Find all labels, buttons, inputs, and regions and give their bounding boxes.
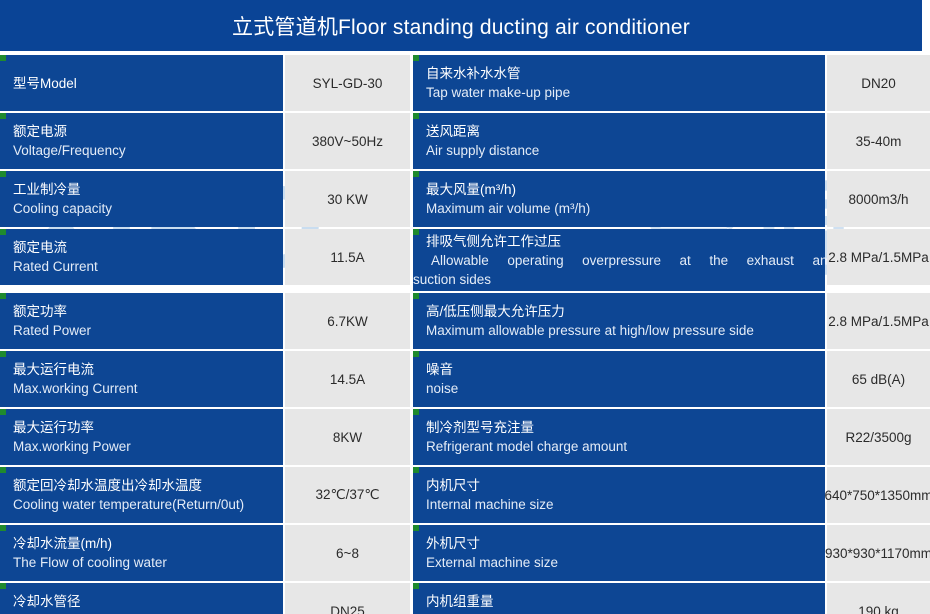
table-row: 额定功率Rated Power6.7KW高/低压侧最大允许压力Maximum a… [0, 293, 930, 349]
row-4-left-label: 额定功率Rated Power [0, 293, 283, 349]
table-row: 冷却水流量(m/h)The Flow of cooling water6~8外机… [0, 525, 930, 581]
row-8-left-label: 冷却水流量(m/h)The Flow of cooling water [0, 525, 283, 581]
row-2-left-value: 30 KW [285, 171, 410, 227]
row-8-left-value: 6~8 [285, 525, 410, 581]
row-7-left-label: 额定回冷却水温度出冷却水温度Cooling water temperature(… [0, 467, 283, 523]
label-english: Tap water make-up pipe [426, 83, 825, 102]
table-row: 冷却水管径Pipe diameter for cooling water pip… [0, 583, 930, 614]
label-english: Refrigerant model charge amount [426, 437, 825, 456]
label-english: Air supply distance [426, 141, 825, 160]
label-english: Cooling capacity [13, 199, 283, 218]
label-chinese: 冷却水管径 [13, 592, 283, 611]
row-2-right-value: 8000m3/h [827, 171, 930, 227]
row-9-left-value: DN25 [285, 583, 410, 614]
label-chinese: 制冷剂型号充注量 [426, 418, 825, 437]
row-0-right-value: DN20 [827, 55, 930, 111]
row-0-left-value: SYL-GD-30 [285, 55, 410, 111]
row-3-right-value: 2.8 MPa/1.5MPa [827, 229, 930, 285]
row-6-left-label: 最大运行功率Max.working Power [0, 409, 283, 465]
row-6-left-value: 8KW [285, 409, 410, 465]
label-english: Maximum allowable pressure at high/low p… [426, 321, 825, 340]
row-3-right-label: 排吸气侧允许工作过压Allowable operating overpressu… [413, 229, 825, 291]
label-chinese: 高/低压侧最大允许压力 [426, 302, 825, 321]
label-chinese: 自来水补水水管 [426, 64, 825, 83]
label-chinese: 型号Model [13, 74, 283, 93]
label-english-line1: Allowable operating overpressure at the … [426, 251, 837, 270]
table-title-banner: 立式管道机Floor standing ducting air conditio… [0, 0, 922, 51]
page-title: 立式管道机Floor standing ducting air conditio… [232, 11, 690, 41]
row-3-left-label: 额定电流Rated Current [0, 229, 283, 285]
row-5-left-label: 最大运行电流Max.working Current [0, 351, 283, 407]
row-7-right-value: 640*750*1350mm [827, 467, 930, 523]
row-4-right-value: 2.8 MPa/1.5MPa [827, 293, 930, 349]
label-english: The Flow of cooling water [13, 553, 283, 572]
row-4-right-label: 高/低压侧最大允许压力Maximum allowable pressure at… [413, 293, 825, 349]
table-row: 额定电源Voltage/Frequency380V~50Hz送风距离Air su… [0, 113, 930, 169]
label-english: Max.working Current [13, 379, 283, 398]
row-8-right-value: 930*930*1170mm [827, 525, 930, 581]
table-row: 最大运行功率Max.working Power8KW制冷剂型号充注量Refrig… [0, 409, 930, 465]
row-5-left-value: 14.5A [285, 351, 410, 407]
row-6-right-label: 制冷剂型号充注量Refrigerant model charge amount [413, 409, 825, 465]
label-chinese: 排吸气侧允许工作过压 [426, 232, 825, 251]
table-row: 工业制冷量Cooling capacity30 KW最大风量(m³/h)Maxi… [0, 171, 930, 227]
label-chinese: 内机尺寸 [426, 476, 825, 495]
label-english: Max.working Power [13, 437, 283, 456]
row-2-right-label: 最大风量(m³/h)Maximum air volume (m³/h) [413, 171, 825, 227]
label-chinese: 冷却水流量(m/h) [13, 534, 283, 553]
row-9-left-label: 冷却水管径Pipe diameter for cooling water pip… [0, 583, 283, 614]
table-row: 最大运行电流Max.working Current14.5A噪音noise65 … [0, 351, 930, 407]
row-0-right-label: 自来水补水水管Tap water make-up pipe [413, 55, 825, 111]
row-8-right-label: 外机尺寸External machine size [413, 525, 825, 581]
table-row: 型号ModelSYL-GD-30自来水补水水管Tap water make-up… [0, 55, 930, 111]
label-english: Maximum air volume (m³/h) [426, 199, 825, 218]
label-chinese: 噪音 [426, 360, 825, 379]
row-7-left-value: 32℃/37℃ [285, 467, 410, 523]
label-english: Rated Current [13, 257, 283, 276]
label-chinese: 工业制冷量 [13, 180, 283, 199]
label-english: noise [426, 379, 825, 398]
row-0-left-label: 型号Model [0, 55, 283, 111]
spec-sheet: XIKO 空调 立式管道机Floor standing ducting air … [0, 0, 930, 614]
label-english-line2: suction sides [413, 270, 837, 289]
row-3-left-value: 11.5A [285, 229, 410, 285]
row-4-left-value: 6.7KW [285, 293, 410, 349]
label-chinese: 额定功率 [13, 302, 283, 321]
row-1-right-value: 35-40m [827, 113, 930, 169]
label-chinese: 额定电源 [13, 122, 283, 141]
row-7-right-label: 内机尺寸Internal machine size [413, 467, 825, 523]
row-5-right-value: 65 dB(A) [827, 351, 930, 407]
row-1-left-value: 380V~50Hz [285, 113, 410, 169]
label-chinese: 送风距离 [426, 122, 825, 141]
label-english: Voltage/Frequency [13, 141, 283, 160]
label-chinese: 最大运行电流 [13, 360, 283, 379]
label-chinese: 内机组重量 [426, 592, 825, 611]
label-english: Cooling water temperature(Return/0ut) [13, 495, 283, 514]
table-row: 额定回冷却水温度出冷却水温度Cooling water temperature(… [0, 467, 930, 523]
table-row: 额定电流Rated Current11.5A排吸气侧允许工作过压Allowabl… [0, 229, 930, 291]
label-chinese: 额定回冷却水温度出冷却水温度 [13, 476, 283, 495]
row-2-left-label: 工业制冷量Cooling capacity [0, 171, 283, 227]
row-9-right-value: 190 kg [827, 583, 930, 614]
label-chinese: 最大运行功率 [13, 418, 283, 437]
label-english: Rated Power [13, 321, 283, 340]
label-chinese: 额定电流 [13, 238, 283, 257]
row-9-right-label: 内机组重量Unit quality [413, 583, 825, 614]
row-6-right-value: R22/3500g [827, 409, 930, 465]
label-english: Internal machine size [426, 495, 825, 514]
row-5-right-label: 噪音noise [413, 351, 825, 407]
label-chinese: 最大风量(m³/h) [426, 180, 825, 199]
row-1-left-label: 额定电源Voltage/Frequency [0, 113, 283, 169]
label-english: External machine size [426, 553, 825, 572]
spec-table: 型号ModelSYL-GD-30自来水补水水管Tap water make-up… [0, 55, 930, 614]
label-chinese: 外机尺寸 [426, 534, 825, 553]
row-1-right-label: 送风距离Air supply distance [413, 113, 825, 169]
label-english-justified: Allowable operating overpressure at the … [413, 251, 837, 289]
